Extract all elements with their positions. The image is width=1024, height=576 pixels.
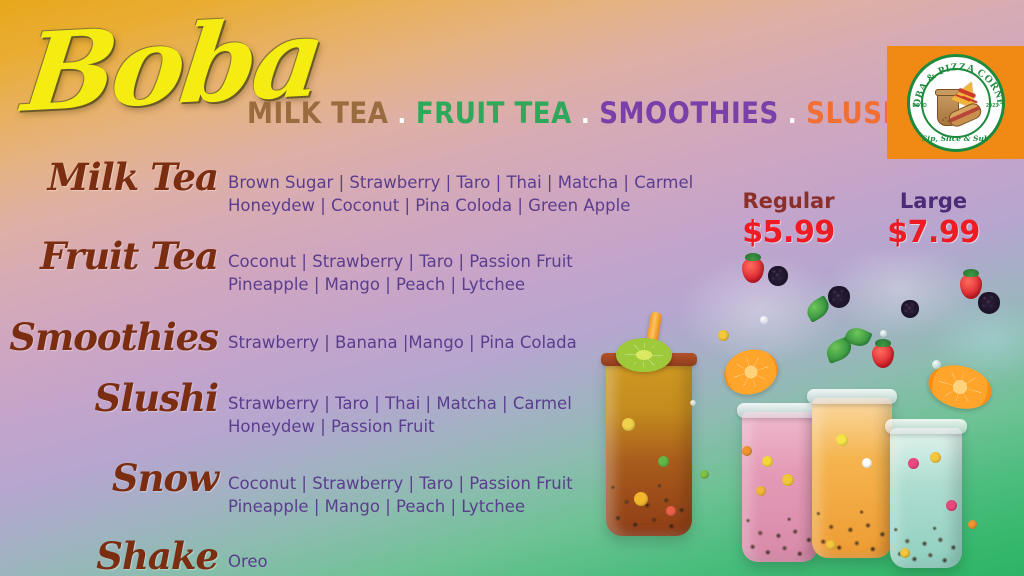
flavor-list-smoothies: Strawberry | Banana |Mango | Pina Colada [228, 323, 760, 354]
menu-row-shake[interactable]: Shake Oreo [0, 542, 760, 576]
brand-logo[interactable]: BOBA & PIZZA CORNER ESTD 2023 Sip, Slice… [887, 46, 1024, 159]
price-column-large: Large $7.99 [861, 190, 1006, 250]
price-label-regular: Regular [716, 190, 861, 213]
flavor-line: Coconut | Strawberry | Taro | Passion Fr… [228, 472, 760, 495]
price-value-regular: $5.99 [716, 215, 861, 250]
category-label-fruit-tea: Fruit Tea [0, 238, 228, 275]
logo-badge: BOBA & PIZZA CORNER ESTD 2023 Sip, Slice… [907, 54, 1005, 152]
category-label-milk-tea: Milk Tea [0, 159, 228, 196]
blackberry [901, 300, 919, 318]
flavor-list-snow: Coconut | Strawberry | Taro | Passion Fr… [228, 464, 760, 519]
header-flavor-milk-tea: Milk Tea [247, 96, 388, 130]
cup-body [890, 428, 962, 568]
flavor-line: Pineapple | Mango | Peach | Lytchee [228, 273, 760, 296]
logo-estd-left: ESTD [913, 103, 928, 109]
flavor-line: Strawberry | Taro | Thai | Matcha | Carm… [228, 392, 760, 415]
mint-leaf [803, 295, 833, 323]
flavor-list-slushi: Strawberry | Taro | Thai | Matcha | Carm… [228, 384, 760, 439]
menu-row-smoothies[interactable]: Smoothies Strawberry | Banana |Mango | P… [0, 323, 760, 360]
pricing-block: Regular $5.99 Large $7.99 [716, 190, 1006, 250]
header-separator: . [572, 100, 599, 130]
mint-leaf [823, 336, 854, 364]
flavor-line: Honeydew | Coconut | Pina Coloda | Green… [228, 194, 760, 217]
header-flavor-smoothies: Smoothies [599, 96, 779, 130]
flavor-list-fruit-tea: Coconut | Strawberry | Taro | Passion Fr… [228, 242, 760, 297]
category-label-shake: Shake [0, 538, 228, 575]
blackberry [828, 286, 850, 308]
menu-row-fruit-tea[interactable]: Fruit Tea Coconut | Strawberry | Taro | … [0, 242, 760, 297]
price-value-large: $7.99 [861, 215, 1006, 250]
menu-row-slushi[interactable]: Slushi Strawberry | Taro | Thai | Matcha… [0, 384, 760, 439]
flavor-line: Coconut | Strawberry | Taro | Passion Fr… [228, 250, 760, 273]
orange-slice [924, 359, 996, 415]
category-label-snow: Snow [0, 460, 228, 497]
cup-lid [885, 419, 967, 434]
cup-body [812, 398, 892, 558]
menu-list: Milk Tea Brown Sugar | Strawberry | Taro… [0, 163, 760, 576]
mint-leaf [843, 324, 872, 350]
tapioca-pearls [812, 484, 892, 558]
category-label-slushi: Slushi [0, 380, 228, 417]
mint-boba-cup [890, 428, 962, 568]
blackberry [768, 266, 788, 286]
flavor-line: Strawberry | Banana |Mango | Pina Colada [228, 331, 760, 354]
menu-row-milk-tea[interactable]: Milk Tea Brown Sugar | Strawberry | Taro… [0, 163, 760, 218]
orange-boba-cup [812, 398, 892, 558]
strawberry [960, 274, 982, 299]
blackberry [978, 292, 1000, 314]
flavor-line: Honeydew | Passion Fruit [228, 415, 760, 438]
header-flavor-fruit-tea: Fruit Tea [416, 96, 572, 130]
category-label-smoothies: Smoothies [0, 319, 228, 356]
price-column-regular: Regular $5.99 [716, 190, 861, 250]
flavor-list-milk-tea: Brown Sugar | Strawberry | Taro | Thai |… [228, 163, 760, 218]
tapioca-pearls [890, 504, 962, 568]
price-label-large: Large [861, 190, 1006, 213]
logo-estd-right: 2023 [986, 103, 998, 109]
logo-tagline: Sip, Slice & Sub [910, 134, 1002, 143]
flavor-line: Pineapple | Mango | Peach | Lytchee [228, 495, 760, 518]
header-separator: . [388, 100, 415, 130]
strawberry [872, 344, 894, 368]
flavor-list-shake: Oreo [228, 542, 760, 573]
flavor-line: Brown Sugar | Strawberry | Taro | Thai |… [228, 171, 760, 194]
menu-row-snow[interactable]: Snow Coconut | Strawberry | Taro | Passi… [0, 464, 760, 519]
cup-lid [807, 389, 897, 404]
header-separator: . [779, 100, 806, 130]
flavor-line: Oreo [228, 550, 760, 573]
